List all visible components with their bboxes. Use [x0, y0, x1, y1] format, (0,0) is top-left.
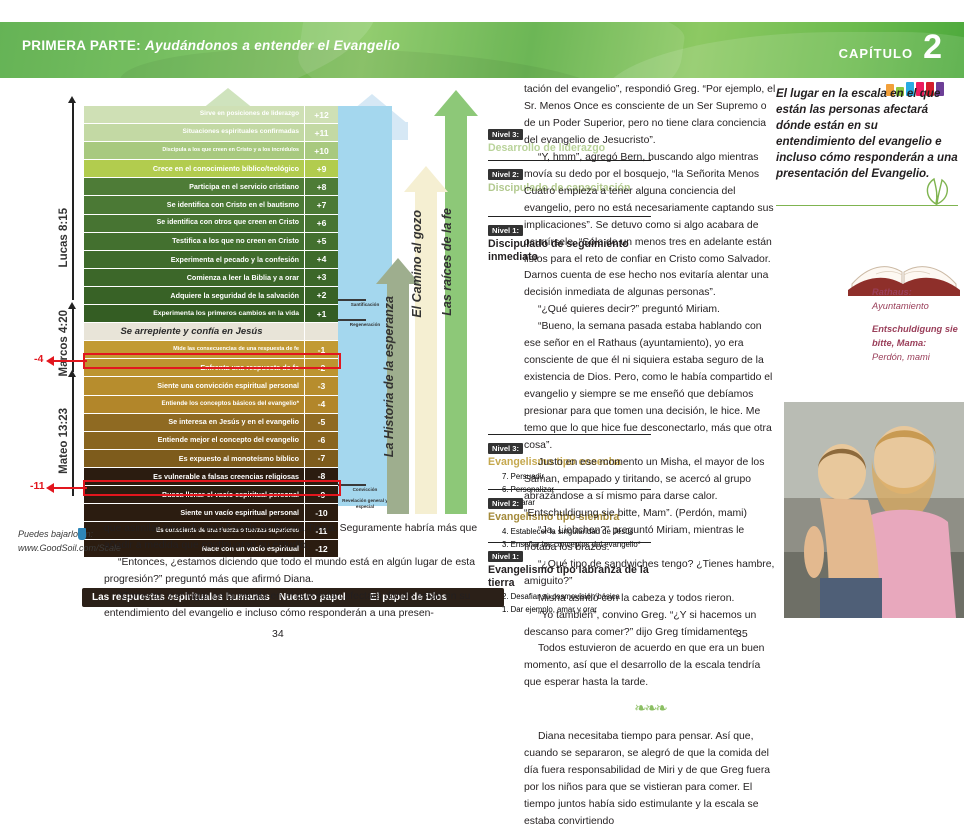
scale-row-label: Situaciones espirituales confirmadas: [84, 124, 304, 141]
paragraph: que asimilar mirando esta Escala de Buen…: [104, 521, 506, 555]
paragraph: “Entonces, ¿estamos diciendo que todo el…: [104, 555, 506, 589]
glossary-def-0: Ayuntamiento: [872, 300, 964, 314]
arrow-label-0: Las raíces de la fe: [440, 208, 454, 316]
paragraph: tación del evangelio”, respondió Greg. “…: [524, 82, 776, 150]
arrow-head-green-icon: [434, 90, 478, 116]
scale-row-label: Entiende los conceptos básicos del evang…: [84, 396, 304, 413]
leaf-icon: [918, 176, 954, 206]
scale-row[interactable]: Sirve en posiciones de liderazgo+12: [84, 106, 338, 124]
level-tag: Nivel 3:: [488, 129, 523, 140]
scale-row-number: +12: [304, 106, 338, 123]
glossary-def-1: Perdón, mami: [872, 351, 964, 365]
scale-row[interactable]: Experimenta el pecado y la confesión+4: [84, 251, 338, 269]
axis-mateo: [72, 376, 74, 496]
paragraph: “Ja, Liebchen?” preguntó Miriam, mientra…: [524, 523, 776, 557]
photo-boy-and-girl: [784, 402, 964, 618]
scale-row-label: Se arrepiente y confía en Jesús: [84, 323, 304, 340]
level-tag: Nivel 2:: [488, 498, 523, 509]
scale-row-label: Sirve en posiciones de liderazgo: [84, 106, 304, 123]
scale-row-number: +10: [304, 142, 338, 159]
callout-arrow-minus11-icon: [53, 487, 87, 489]
scale-row[interactable]: Entiende los conceptos básicos del evang…: [84, 396, 338, 414]
open-book-illustration: [846, 218, 964, 296]
glossary-term-0: Rathaus:: [872, 286, 964, 300]
scale-row-number: -5: [304, 414, 338, 431]
scale-row-number: -4: [304, 396, 338, 413]
scale-row[interactable]: Discipula a los que creen en Cristo y a …: [84, 142, 338, 160]
glossary-entry-0: Rathaus: Ayuntamiento: [872, 286, 964, 314]
scale-row-number: -10: [304, 504, 338, 521]
level-tag: Nivel 2:: [488, 169, 523, 180]
paragraph: “¿Qué tipo de sandwiches tengo? ¿Tienes …: [524, 557, 776, 591]
level-tag: Nivel 3:: [488, 443, 523, 454]
scale-row-label: Se identifica con otros que creen en Cri…: [84, 215, 304, 232]
arrow-label-2: La Historia de la esperanza: [382, 296, 396, 457]
part-title: Ayudándonos a entender el Evangelio: [145, 38, 400, 53]
scale-row[interactable]: Se arrepiente y confía en Jesús: [84, 323, 338, 341]
arrow-label-1: El Camino al gozo: [410, 210, 424, 318]
level-tag: Nivel 1:: [488, 225, 523, 236]
chapter-number: 2: [923, 30, 942, 64]
scale-row-number: +5: [304, 233, 338, 250]
scale-row-number: +3: [304, 269, 338, 286]
breadcrumb: PRIMERA PARTE: Ayudándonos a entender el…: [22, 38, 400, 53]
scale-row-label: Discipula a los que creen en Cristo y a …: [84, 142, 304, 159]
scale-row-number: +1: [304, 305, 338, 322]
scale-row[interactable]: Experimenta los primeros cambios en la v…: [84, 305, 338, 323]
axis-label-2: Mateo 13:23: [58, 408, 70, 474]
scale-row-label: Testifica a los que no creen en Cristo: [84, 233, 304, 250]
good-soil-scale-diagram: Santificación Regeneración Convicción Re…: [36, 88, 516, 518]
download-note: Puedes bajarlo en: www.GoodSoil.com/Scal…: [18, 528, 102, 555]
glossary-term-1: Entschuldigung sie bitte, Mama:: [872, 323, 964, 351]
scale-row-label: Adquiere la seguridad de la salvación: [84, 287, 304, 304]
scale-row[interactable]: Comienza a leer la Biblia y a orar+3: [84, 269, 338, 287]
scale-row-number: +7: [304, 196, 338, 213]
scale-row-number: [304, 323, 338, 340]
scale-row-label: Entiende mejor el concepto del evangelio: [84, 432, 304, 449]
scale-row-label: Siente un vacío espiritual personal: [84, 504, 304, 521]
paragraph: Justo en ese momento un Misha, el mayor …: [524, 455, 776, 523]
paragraph: Diana necesitaba tiempo para pensar. Así…: [524, 729, 776, 830]
paragraph: “¿Qué quieres decir?” preguntó Miriam.: [524, 302, 776, 319]
scale-row[interactable]: Siente un vacío espiritual personal-10: [84, 504, 338, 522]
page-number-left: 34: [272, 628, 284, 640]
scale-row-label: Crece en el conocimiento bíblico/teológi…: [84, 160, 304, 177]
paragraph: “Bueno, la semana pasada estaba hablando…: [524, 319, 776, 455]
chapter-indicator: CAPÍTULO 2: [839, 30, 942, 64]
scale-row-label: Comienza a leer la Biblia y a orar: [84, 269, 304, 286]
page-header-banner: PRIMERA PARTE: Ayudándonos a entender el…: [0, 22, 964, 78]
axis-label-0: Lucas 8:15: [58, 208, 70, 267]
scale-row[interactable]: Se identifica con otros que creen en Cri…: [84, 215, 338, 233]
axis-marcos: [72, 308, 74, 372]
scale-row[interactable]: Entiende mejor el concepto del evangelio…: [84, 432, 338, 450]
callout-arrow-minus4-icon: [53, 360, 87, 362]
paragraph: “Correcto, y el lugar en la escala en el…: [104, 589, 506, 623]
scale-row[interactable]: Se identifica con Cristo en el bautismo+…: [84, 196, 338, 214]
arrow-head-cream-icon: [404, 166, 448, 192]
paragraph: “Y, hmm”, agregó Bern, buscando algo mie…: [524, 150, 776, 303]
leaf-divider-icon: ❧❧❧: [524, 697, 776, 721]
right-column-body-text: tación del evangelio”, respondió Greg. “…: [524, 82, 776, 830]
paragraph: Misha asintió con la cabeza y todos rier…: [524, 591, 776, 608]
part-prefix: PRIMERA PARTE:: [22, 38, 141, 53]
glossary-entry-1: Entschuldigung sie bitte, Mama: Perdón, …: [872, 323, 964, 365]
scale-row-number: -6: [304, 432, 338, 449]
glossary-sidebar: Rathaus: Ayuntamiento Entschuldigung sie…: [872, 286, 964, 374]
axis-label-1: Marcos 4:20: [58, 310, 70, 376]
callout-box-minus4[interactable]: [83, 353, 341, 369]
callout-box-minus11[interactable]: [83, 480, 341, 496]
scale-row-label: Experimenta el pecado y la confesión: [84, 251, 304, 268]
scale-row-number: +4: [304, 251, 338, 268]
pull-quote: El lugar en la escala en el que están la…: [776, 86, 958, 182]
scale-row[interactable]: Situaciones espirituales confirmadas+11: [84, 124, 338, 142]
chapter-label: CAPÍTULO: [839, 46, 913, 61]
scale-row[interactable]: Testifica a los que no creen en Cristo+5: [84, 233, 338, 251]
callout-label-minus4: -4: [34, 353, 43, 365]
scale-row-label: Se interesa en Jesús y en el evangelio: [84, 414, 304, 431]
left-column-body-text: que asimilar mirando esta Escala de Buen…: [104, 521, 506, 623]
scale-row-label: Participa en el servicio cristiano: [84, 178, 304, 195]
download-icon: [78, 528, 86, 540]
axis-lucas: [72, 102, 74, 300]
scale-row-number: +8: [304, 178, 338, 195]
scale-row-number: -3: [304, 377, 338, 394]
scale-row-number: -7: [304, 450, 338, 467]
scale-row[interactable]: Se interesa en Jesús y en el evangelio-5: [84, 414, 338, 432]
scale-row-label: Experimenta los primeros cambios en la v…: [84, 305, 304, 322]
page-number-right: 35: [736, 628, 748, 640]
scale-row[interactable]: Siente una convicción espiritual persona…: [84, 377, 338, 395]
scale-row-label: Es expuesto al monoteísmo bíblico: [84, 450, 304, 467]
scale-row[interactable]: Adquiere la seguridad de la salvación+2: [84, 287, 338, 305]
paragraph: Todos estuvieron de acuerdo en que era u…: [524, 641, 776, 692]
scale-row-number: +9: [304, 160, 338, 177]
scale-row-number: +2: [304, 287, 338, 304]
scale-row-number: +11: [304, 124, 338, 141]
callout-label-minus11: -11: [30, 480, 45, 492]
scale-row-label: Siente una convicción espiritual persona…: [84, 377, 304, 394]
scale-row[interactable]: Crece en el conocimiento bíblico/teológi…: [84, 160, 338, 178]
scale-row[interactable]: Participa en el servicio cristiano+8: [84, 178, 338, 196]
scale-row-number: +6: [304, 215, 338, 232]
scale-row-label: Se identifica con Cristo en el bautismo: [84, 196, 304, 213]
scale-row[interactable]: Es expuesto al monoteísmo bíblico-7: [84, 450, 338, 468]
